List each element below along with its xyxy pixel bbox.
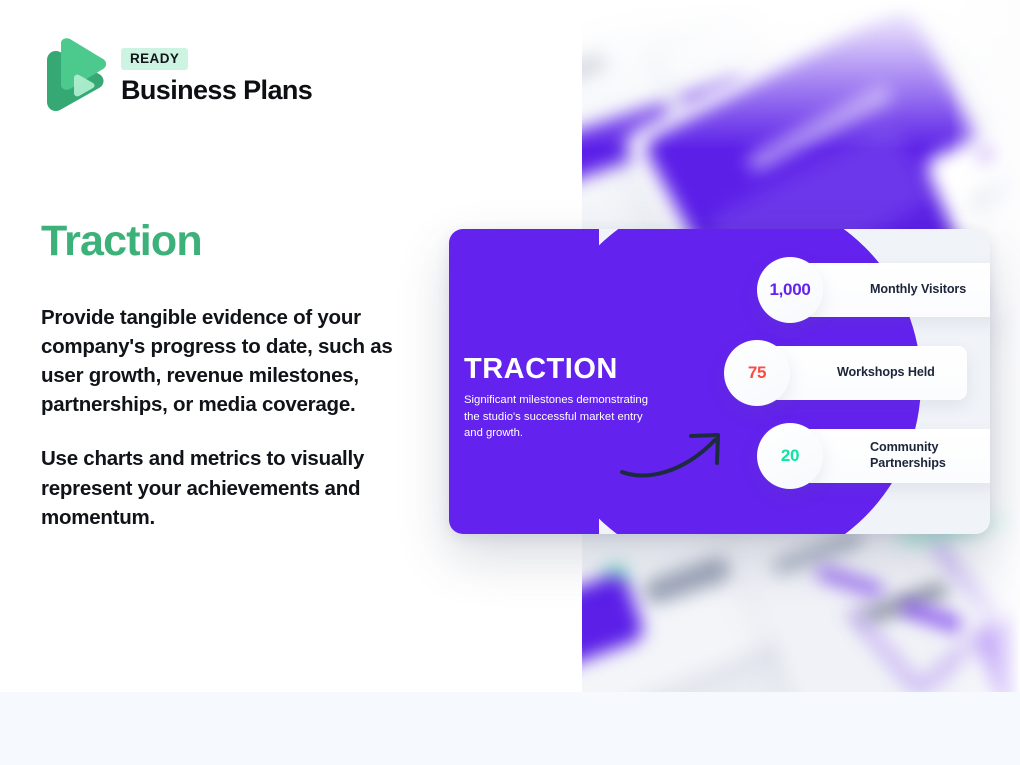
slide-preview-page: READY Business Plans Traction Provide ta… bbox=[0, 0, 1020, 765]
metric-item[interactable]: Monthly Visitors 1,000 bbox=[757, 257, 979, 323]
metric-value: 75 bbox=[748, 363, 766, 383]
ready-badge: READY bbox=[121, 48, 188, 70]
metric-circle: 20 bbox=[757, 423, 823, 489]
metric-value: 20 bbox=[781, 446, 799, 466]
metrics-list: Monthly Visitors 1,000 Workshops Held 75… bbox=[724, 257, 979, 489]
metric-pill: Monthly Visitors bbox=[802, 263, 990, 317]
metric-circle: 75 bbox=[724, 340, 790, 406]
metric-label: Monthly Visitors bbox=[870, 282, 966, 298]
metric-pill: Workshops Held bbox=[769, 346, 967, 400]
metric-circle: 1,000 bbox=[757, 257, 823, 323]
brand-lockup: READY Business Plans bbox=[41, 38, 312, 116]
metric-item[interactable]: Community Partnerships 20 bbox=[757, 423, 979, 489]
body-copy: Provide tangible evidence of your compan… bbox=[41, 303, 431, 532]
play-triangle-logo-icon bbox=[41, 38, 107, 116]
bottom-strip bbox=[0, 692, 1020, 765]
brand-text: READY Business Plans bbox=[121, 48, 312, 106]
metric-label: Community Partnerships bbox=[870, 440, 990, 471]
body-paragraph-2: Use charts and metrics to visually repre… bbox=[41, 444, 431, 531]
metric-item[interactable]: Workshops Held 75 bbox=[724, 340, 979, 406]
body-paragraph-1: Provide tangible evidence of your compan… bbox=[41, 303, 431, 419]
page-title: Traction bbox=[41, 217, 202, 266]
metric-label: Workshops Held bbox=[837, 365, 935, 381]
traction-slide-card[interactable]: TRACTION Significant milestones demonstr… bbox=[449, 229, 990, 534]
metric-pill: Community Partnerships bbox=[802, 429, 990, 483]
slide-title: TRACTION bbox=[464, 353, 618, 386]
metric-value: 1,000 bbox=[769, 280, 810, 300]
brand-name: Business Plans bbox=[121, 75, 312, 106]
curved-arrow-up-right-icon bbox=[619, 419, 739, 489]
